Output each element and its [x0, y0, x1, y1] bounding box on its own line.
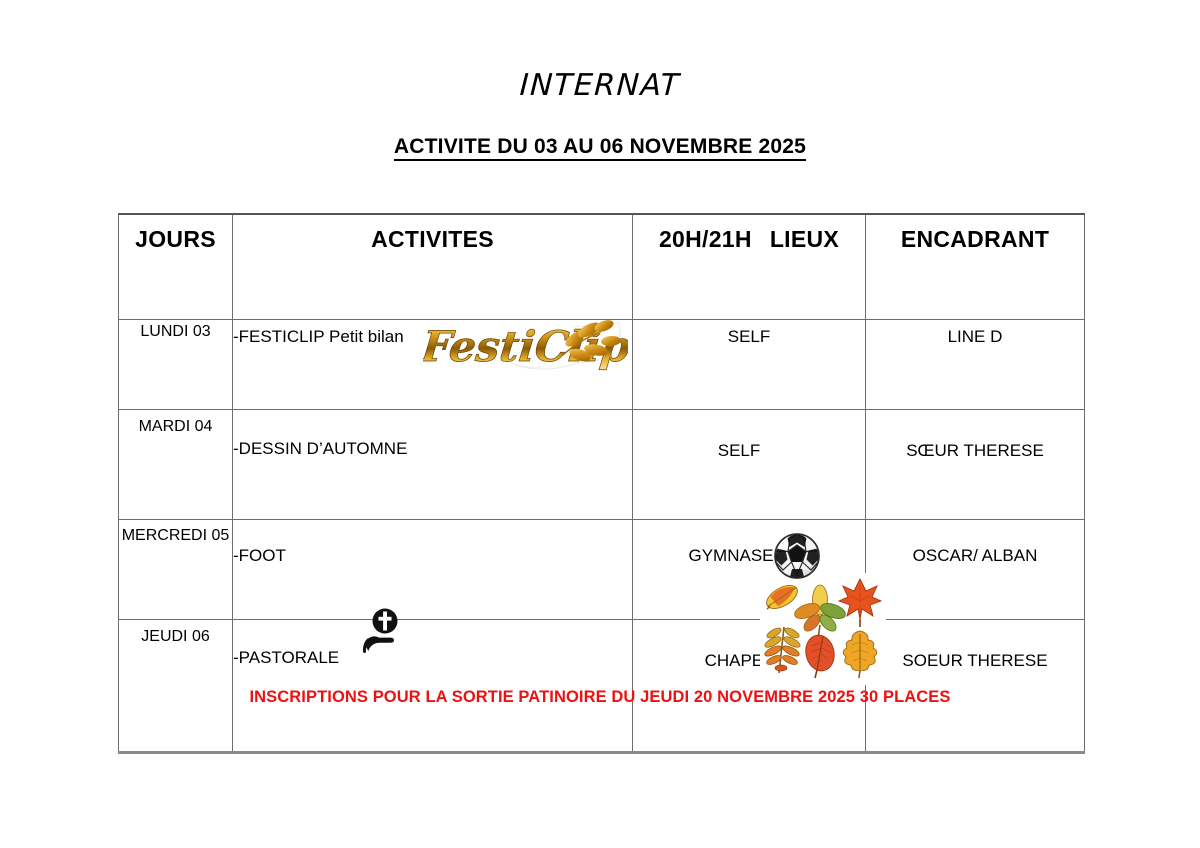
pastorale-cross-icon: [360, 607, 404, 653]
schedule-table: JOURS ACTIVITES 20H/21HLIEUX ENCADRANT L…: [118, 213, 1085, 754]
column-header-lieux-label: LIEUX: [770, 226, 839, 252]
table-row: MARDI 04 -DESSIN D’AUTOMNE: [119, 410, 1085, 520]
table-row: JEUDI 06 -PASTORALE CHAPELLE SOEUR TH: [119, 620, 1085, 753]
svg-text:FestiClip: FestiClip: [423, 321, 628, 371]
column-header-encadrant: ENCADRANT: [866, 214, 1085, 320]
festiclip-logo-icon: FestiClip: [423, 317, 628, 381]
cell-day: LUNDI 03: [119, 320, 233, 410]
column-header-activites-label: ACTIVITES: [233, 215, 632, 253]
cell-place-text: GYMNASE: [688, 546, 773, 565]
footer-note: INSCRIPTIONS POUR LA SORTIE PATINOIRE DU…: [0, 688, 1200, 707]
schedule-table-wrapper: JOURS ACTIVITES 20H/21HLIEUX ENCADRANT L…: [118, 213, 1084, 754]
cell-staff: SŒUR THERESE: [866, 410, 1085, 520]
table-header-row: JOURS ACTIVITES 20H/21HLIEUX ENCADRANT: [119, 214, 1085, 320]
cell-place: SELF: [633, 410, 866, 520]
cell-activity-text: -PASTORALE: [233, 648, 339, 668]
cell-activity-text: -FESTICLIP Petit bilan: [233, 327, 404, 347]
page-subtitle-text: ACTIVITE DU 03 AU 06 NOVEMBRE 2025: [394, 135, 806, 161]
cell-activity: -FESTICLIP Petit bilan: [233, 320, 633, 410]
cell-day: MERCREDI 05: [119, 520, 233, 620]
autumn-leaves-icon: [760, 573, 886, 685]
soccer-ball-icon: [773, 532, 821, 580]
cell-activity: -FOOT: [233, 520, 633, 620]
cell-staff: SOEUR THERESE: [866, 620, 1085, 753]
column-header-activites: ACTIVITES: [233, 214, 633, 320]
cell-place-text: SELF: [728, 327, 771, 346]
column-header-time-label: 20H/21H: [659, 226, 752, 252]
cell-place: SELF: [633, 320, 866, 410]
cell-staff: LINE D: [866, 320, 1085, 410]
column-header-jours-label: JOURS: [119, 215, 232, 253]
cell-activity-text: -DESSIN D’AUTOMNE: [233, 439, 407, 459]
page-subtitle: ACTIVITE DU 03 AU 06 NOVEMBRE 2025: [0, 135, 1200, 159]
festiclip-leaf-sprig: [563, 318, 622, 364]
cell-activity: -PASTORALE: [233, 620, 633, 753]
cell-activity: -DESSIN D’AUTOMNE: [233, 410, 633, 520]
cell-day: JEUDI 06: [119, 620, 233, 753]
table-row: MERCREDI 05 -FOOT GYMNASE: [119, 520, 1085, 620]
cell-place-text: SELF: [718, 441, 761, 460]
column-header-encadrant-label: ENCADRANT: [866, 215, 1084, 253]
cell-day: MARDI 04: [119, 410, 233, 520]
column-header-lieux: 20H/21HLIEUX: [633, 214, 866, 320]
cell-activity-text: -FOOT: [233, 546, 286, 566]
column-header-jours: JOURS: [119, 214, 233, 320]
cell-staff: OSCAR/ ALBAN: [866, 520, 1085, 620]
table-row: LUNDI 03 -FESTICLIP Petit bilan: [119, 320, 1085, 410]
page-title: INTERNAT: [0, 68, 1200, 103]
